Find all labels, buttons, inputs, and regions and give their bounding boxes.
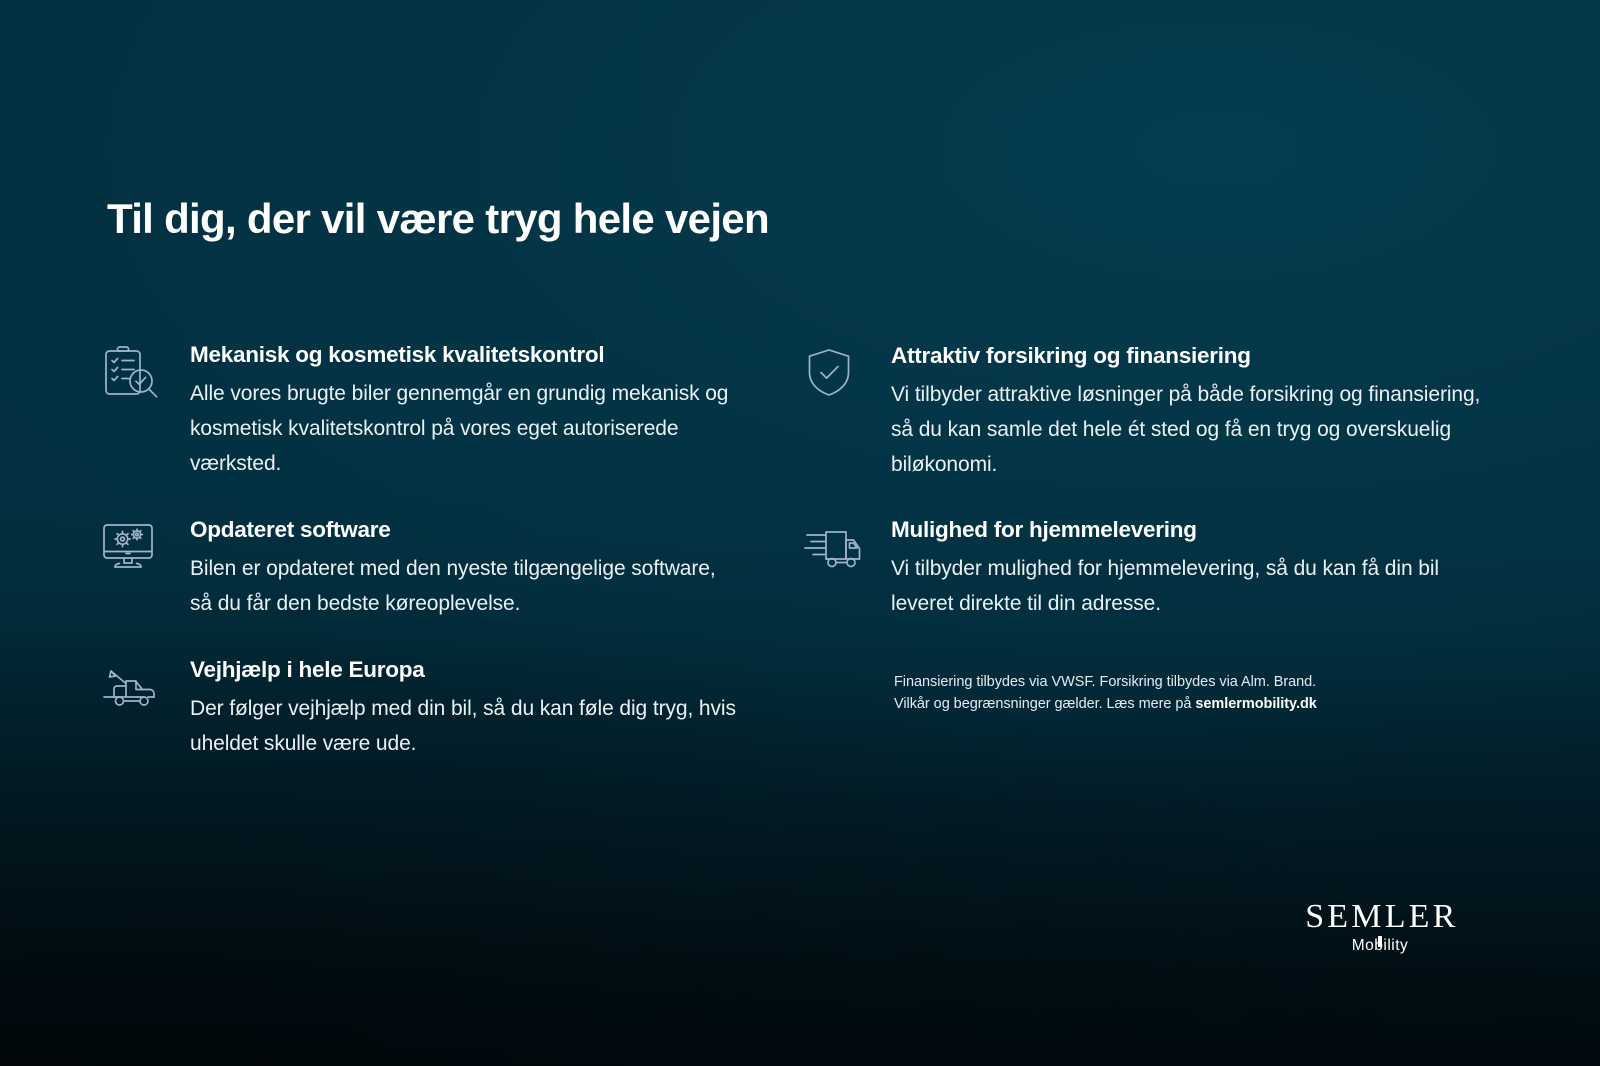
clipboard-check-magnifier-icon [100,344,164,402]
feature-title: Vejhjælp i hele Europa [190,655,740,685]
feature-description: Der følger vejhjælp med din bil, så du k… [190,691,740,761]
feature-insurance-financing: Attraktiv forsikring og finansiering Vi … [801,341,1491,482]
slide-background: Til dig, der vil være tryg hele vejen [0,0,1600,1066]
feature-description: Bilen er opdateret med den nyeste tilgæn… [190,551,740,621]
legal-line-1: Finansiering tilbydes via VWSF. Forsikri… [894,671,1454,693]
legal-line-2: Vilkår og begrænsninger gælder. Læs mere… [894,693,1454,715]
feature-description: Vi tilbyder mulighed for hjemmelevering,… [891,551,1491,621]
feature-title: Opdateret software [190,515,740,545]
legal-disclaimer: Finansiering tilbydes via VWSF. Forsikri… [894,671,1454,715]
feature-description: Vi tilbyder attraktive løsninger på både… [891,377,1491,482]
feature-quality-control: Mekanisk og kosmetisk kvalitetskontrol A… [100,340,740,481]
feature-updated-software: Opdateret software Bilen er opdateret me… [100,515,740,621]
legal-line-2-text: Vilkår og begrænsninger gælder. Læs mere… [894,696,1195,712]
feature-home-delivery: Mulighed for hjemmelevering Vi tilbyder … [801,515,1491,621]
feature-roadside-assistance: Vejhjælp i hele Europa Der følger vejhjæ… [100,655,740,761]
feature-title: Mulighed for hjemmelevering [891,515,1491,545]
semlermobility-link[interactable]: semlermobility.dk [1195,696,1316,712]
feature-title: Mekanisk og kosmetisk kvalitetskontrol [190,340,740,370]
logo-divider-tick-right [1378,936,1380,947]
shield-check-icon [801,345,865,403]
page-title: Til dig, der vil være tryg hele vejen [107,192,769,246]
monitor-gears-icon [100,519,164,577]
delivery-truck-icon [801,519,865,577]
feature-title: Attraktiv forsikring og finansiering [891,341,1491,371]
logo-divider-tick-left [1380,936,1382,947]
semler-mobility-logo: SEMLER Mobility [1302,898,1458,956]
logo-wordmark: SEMLER [1302,898,1458,936]
feature-description: Alle vores brugte biler gennemgår en gru… [190,376,740,481]
features-column-left: Mekanisk og kosmetisk kvalitetskontrol A… [100,340,740,761]
slide-content: Til dig, der vil være tryg hele vejen [0,0,1600,1066]
tow-truck-icon [100,659,164,717]
features-column-right: Attraktiv forsikring og finansiering Vi … [801,340,1491,621]
